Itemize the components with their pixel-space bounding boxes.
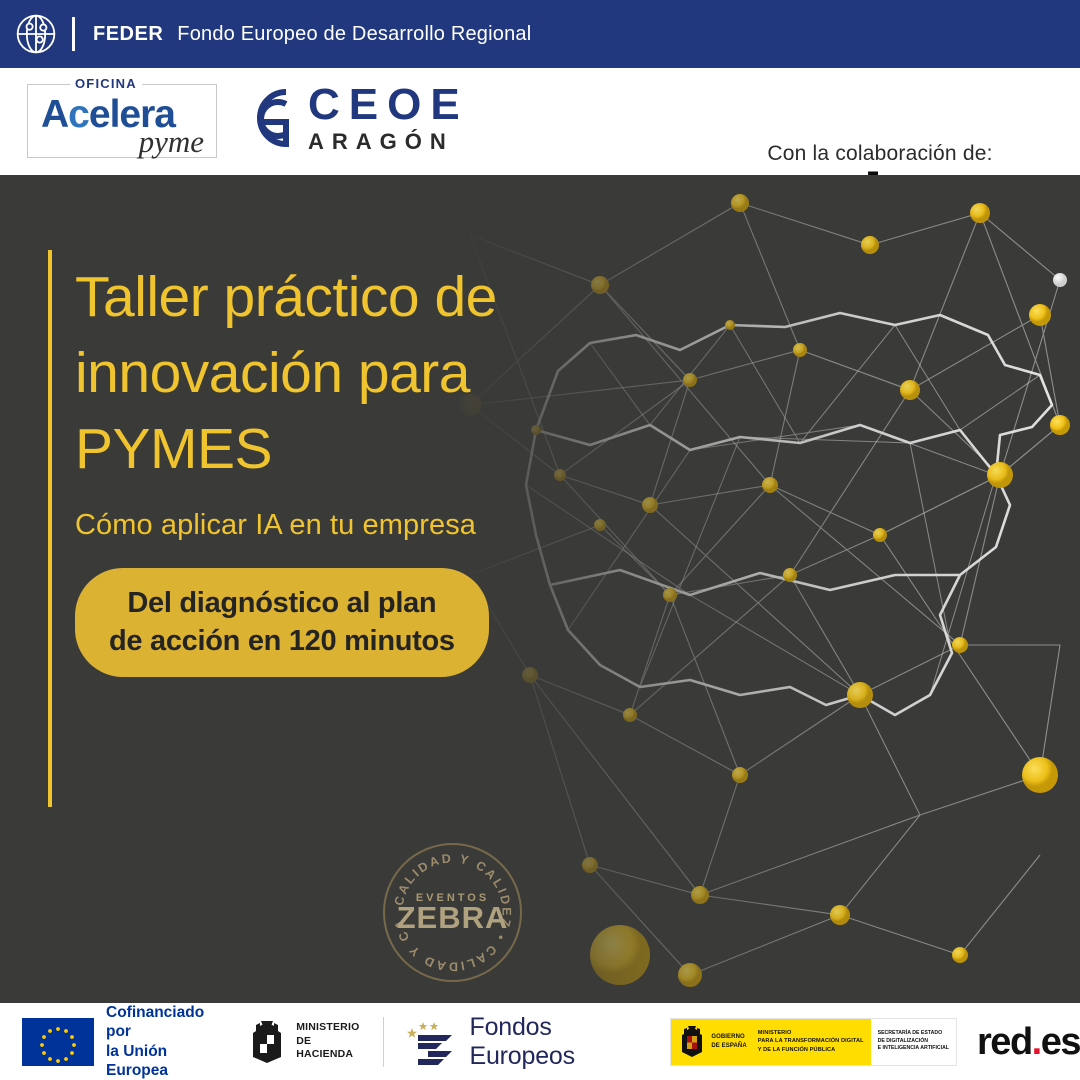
gobierno-line-2: DE ESPAÑA (711, 1042, 746, 1050)
page-title: Taller práctico de innovación para PYMES (75, 260, 595, 487)
spain-coat-of-arms-icon (247, 1019, 287, 1065)
redes-dot: . (1032, 1021, 1041, 1063)
ministerio-line-3: Y DE LA FUNCIÓN PÚBLICA (758, 1046, 864, 1054)
eu-cofunding-logo: Cofinanciado por la Unión Europea (0, 1003, 217, 1080)
redes-part-1: red (977, 1021, 1032, 1063)
gobierno-line-1: GOBIERNO (711, 1033, 746, 1041)
globe-network-icon (14, 12, 58, 56)
pill-line-1: Del diagnóstico al plan (127, 587, 436, 619)
acelera-pyme-logo[interactable]: OFICINA Acelera pyme (27, 84, 217, 158)
min-hacienda-line-1: MINISTERIO (296, 1021, 360, 1035)
ministerio-hacienda-logo: MINISTERIO DE HACIENDA (217, 1003, 360, 1080)
pill-line-2: de acción en 120 minutos (109, 625, 455, 657)
highlight-pill: Del diagnóstico al plan de acción en 120… (75, 568, 489, 676)
hero-subtitle: Cómo aplicar IA en tu empresa (75, 509, 595, 542)
ministerio-line-2: PARA LA TRANSFORMACIÓN DIGITAL (758, 1037, 864, 1045)
eu-flag-icon (22, 1018, 94, 1066)
eu-line-2: la Unión Europea (106, 1042, 217, 1080)
logo-band: OFICINA Acelera pyme CEOE ARAGÓN Con la … (0, 68, 1080, 175)
redes-part-2: es (1041, 1021, 1080, 1063)
footer-logos: Cofinanciado por la Unión Europea MINIST… (0, 1003, 1080, 1080)
feder-fulltext: Fondo Europeo de Desarrollo Regional (177, 23, 531, 46)
secretaria-line-3: E INTELIGENCIA ARTIFICIAL (878, 1045, 949, 1053)
spain-coat-of-arms-icon (678, 1025, 706, 1059)
hero-content: Taller práctico de innovación para PYMES… (75, 260, 595, 677)
secretaria-line-2: DE DIGITALIZACIÓN (878, 1038, 949, 1046)
min-hacienda-line-2: DE HACIENDA (296, 1035, 360, 1062)
fondos-europeos-icon (406, 1019, 458, 1065)
feder-banner: FEDER Fondo Europeo de Desarrollo Region… (0, 0, 1080, 68)
event-poster: FEDER Fondo Europeo de Desarrollo Region… (0, 0, 1080, 1080)
gobierno-espana-logo: GOBIERNO DE ESPAÑA MINISTERIO PARA LA TR… (670, 1018, 957, 1066)
fondos-europeos-logo: Fondos Europeos (384, 1003, 645, 1080)
hero-section: Taller práctico de innovación para PYMES… (0, 175, 1080, 1003)
ministerio-line-1: MINISTERIO (758, 1029, 864, 1037)
ceoe-aragon-logo[interactable]: CEOE ARAGÓN (228, 82, 469, 154)
ceoe-title: CEOE (308, 83, 469, 127)
acelera-pyme-word: pyme (139, 126, 204, 157)
ceoe-monogram-icon (228, 82, 294, 154)
fondos-europeos-label: Fondos Europeos (470, 1013, 645, 1071)
divider (72, 17, 75, 51)
stamp-brand: ZEBRA (397, 902, 509, 933)
accent-bar (48, 250, 52, 807)
acelera-badge: OFICINA (70, 76, 142, 91)
feder-acronym: FEDER (93, 23, 163, 46)
ceoe-subtitle: ARAGÓN (308, 131, 469, 153)
secretaria-line-1: SECRETARÍA DE ESTADO (878, 1030, 949, 1038)
eu-line-1: Cofinanciado por (106, 1003, 217, 1042)
redes-logo[interactable]: red.es (977, 1023, 1080, 1061)
eventos-zebra-stamp: CALIDAD Y CALIDEZ • CALIDAD Y CALIDEZ • … (383, 843, 522, 982)
